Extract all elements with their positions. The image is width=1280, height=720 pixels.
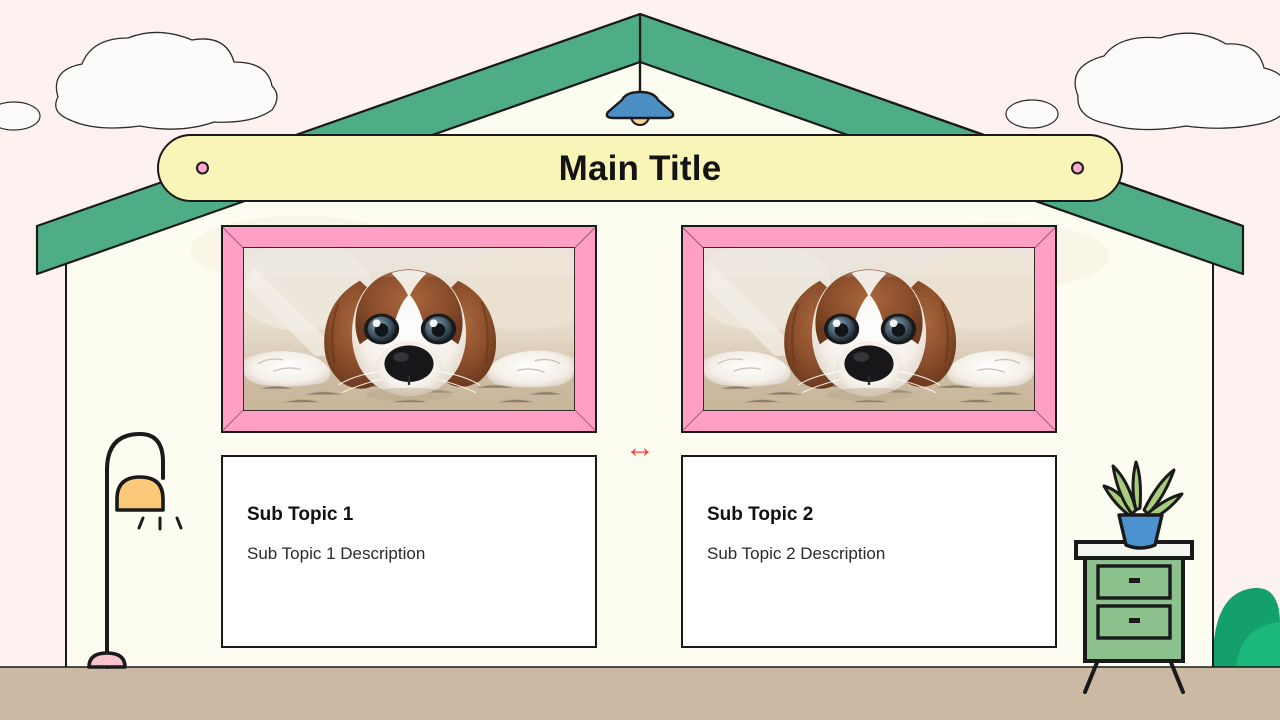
frame-miter-icon: [1034, 227, 1055, 248]
frame-miter-icon: [574, 410, 595, 431]
house-illustration: [0, 0, 1280, 720]
sub-topic-description-1: Sub Topic 1 Description: [247, 544, 595, 564]
photo-image-1: [243, 247, 575, 411]
banner-left-dot-icon: [196, 162, 209, 175]
photo-frame-1[interactable]: [221, 225, 597, 433]
sub-topic-card-1[interactable]: Sub Topic 1 Sub Topic 1 Description: [221, 455, 597, 648]
page-title: Main Title: [559, 151, 722, 186]
main-title-banner[interactable]: Main Title: [157, 134, 1123, 202]
sub-topic-title-1: Sub Topic 1: [247, 505, 595, 526]
sub-topic-description-2: Sub Topic 2 Description: [707, 544, 1055, 564]
photo-image-2: [703, 247, 1035, 411]
frame-miter-icon: [222, 410, 243, 431]
frame-miter-icon: [682, 227, 703, 248]
swap-arrow-icon[interactable]: ↔: [614, 432, 666, 464]
slide-canvas: Main Title Sub Topic 1 Sub Topic 1 Descr…: [0, 0, 1280, 720]
frame-miter-icon: [1034, 410, 1055, 431]
frame-miter-icon: [222, 227, 243, 248]
content-column-2: Sub Topic 2 Sub Topic 2 Description: [681, 225, 1057, 433]
photo-frame-2[interactable]: [681, 225, 1057, 433]
frame-miter-icon: [574, 227, 595, 248]
sub-topic-card-2[interactable]: Sub Topic 2 Sub Topic 2 Description: [681, 455, 1057, 648]
cloud-right-small-icon: [1006, 100, 1058, 128]
banner-right-dot-icon: [1071, 162, 1084, 175]
content-column-1: Sub Topic 1 Sub Topic 1 Description: [221, 225, 597, 433]
sub-topic-title-2: Sub Topic 2: [707, 505, 1055, 526]
frame-miter-icon: [682, 410, 703, 431]
